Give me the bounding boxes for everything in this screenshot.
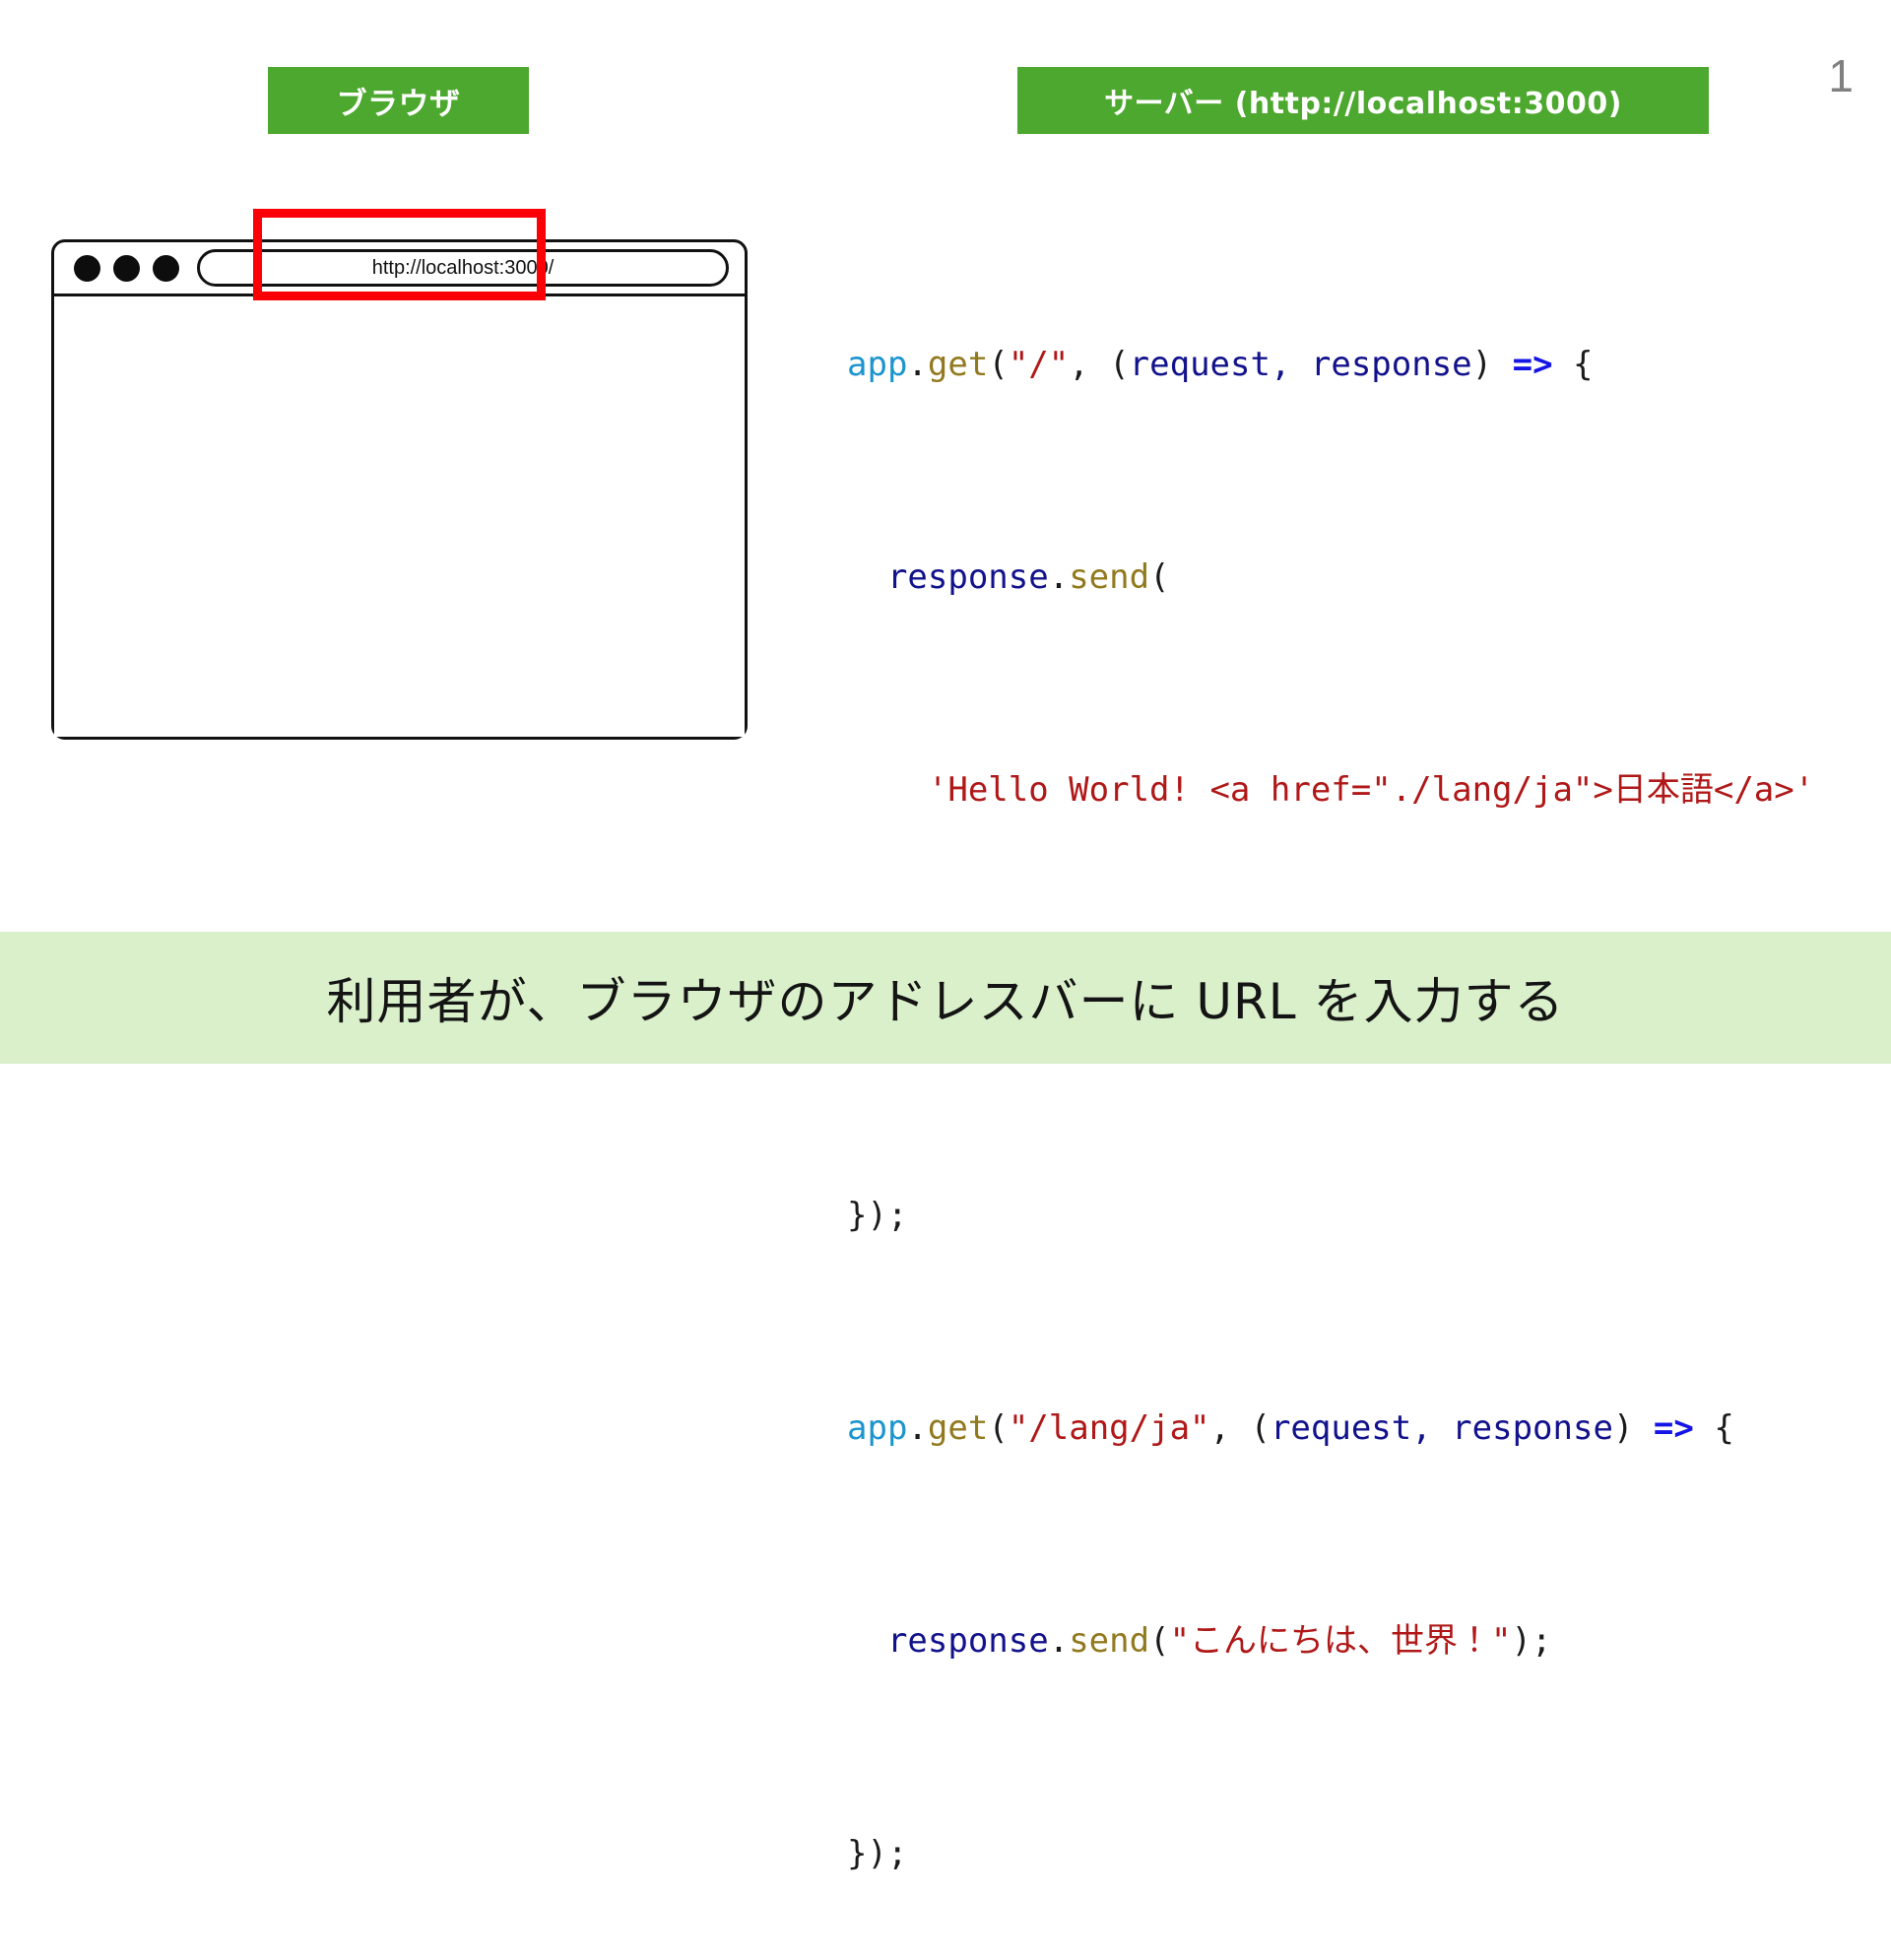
- code-line: 'Hello World! <a href="./lang/ja">日本語</a…: [847, 754, 1861, 825]
- code-token-punct: .: [1049, 1621, 1069, 1661]
- code-token-arrow: =>: [1654, 1408, 1694, 1448]
- browser-viewport: [54, 296, 745, 737]
- code-token-punct: [847, 1621, 887, 1661]
- code-token-punct: , (: [1069, 345, 1129, 384]
- code-token-str: 'Hello World! <a href="./lang/ja">日本語</a…: [928, 770, 1814, 810]
- code-token-arrow: =>: [1513, 345, 1553, 384]
- code-token-str: "/lang/ja": [1009, 1408, 1210, 1448]
- code-token-fn: send: [1069, 1621, 1149, 1661]
- page-number: 1: [1828, 53, 1854, 98]
- code-token-punct: [847, 557, 887, 597]
- code-token-punct: .: [907, 1408, 927, 1448]
- code-token-str: "/": [1009, 345, 1069, 384]
- browser-column-header: ブラウザ: [268, 67, 529, 134]
- code-token-punct: );: [1512, 1621, 1552, 1661]
- address-bar-url-text[interactable]: http://localhost:3000/: [372, 257, 554, 280]
- code-token-obj: app: [847, 345, 907, 384]
- code-token-punct: ): [1472, 345, 1513, 384]
- caption-bar: 利用者が、ブラウザのアドレスバーに URL を入力する: [0, 932, 1891, 1064]
- code-token-var: response: [887, 1621, 1049, 1661]
- code-token-punct: .: [907, 345, 927, 384]
- code-token-punct: (: [1149, 557, 1169, 597]
- code-token-punct: (: [988, 345, 1008, 384]
- caption-text: 利用者が、ブラウザのアドレスバーに URL を入力する: [327, 962, 1565, 1033]
- server-column-header-label: サーバー (http://localhost:3000): [1104, 79, 1622, 122]
- browser-chrome-bar: http://localhost:3000/: [54, 242, 745, 296]
- code-line: });: [847, 1818, 1861, 1889]
- code-token-punct: {: [1553, 345, 1594, 384]
- code-line: });: [847, 1180, 1861, 1251]
- code-token-var: request, response: [1271, 1408, 1613, 1448]
- code-token-punct: ): [1613, 1408, 1654, 1448]
- browser-column-header-label: ブラウザ: [337, 79, 461, 123]
- code-line: app.get("/lang/ja", (request, response) …: [847, 1393, 1861, 1464]
- server-column-header: サーバー (http://localhost:3000): [1017, 67, 1709, 134]
- window-controls: [74, 255, 179, 282]
- code-token-punct: .: [1049, 557, 1069, 597]
- code-token-str: "こんにちは、世界！": [1170, 1621, 1512, 1661]
- code-token-fn: get: [928, 1408, 988, 1448]
- code-token-var: response: [887, 557, 1049, 597]
- server-code-block: app.get("/", (request, response) => { re…: [847, 187, 1861, 1960]
- code-line: response.send(: [847, 542, 1861, 613]
- address-bar[interactable]: http://localhost:3000/: [197, 249, 729, 287]
- code-token-punct: [847, 770, 928, 810]
- code-line: response.send("こんにちは、世界！");: [847, 1605, 1861, 1676]
- code-line: app.get("/", (request, response) => {: [847, 329, 1861, 400]
- code-token-fn: get: [928, 345, 988, 384]
- code-token-punct: });: [847, 1196, 907, 1235]
- code-token-var: request, response: [1130, 345, 1472, 384]
- browser-window-mock: http://localhost:3000/: [51, 239, 748, 740]
- code-token-punct: , (: [1210, 1408, 1271, 1448]
- code-token-punct: });: [847, 1834, 907, 1873]
- code-token-obj: app: [847, 1408, 907, 1448]
- code-token-fn: send: [1069, 557, 1149, 597]
- window-maximize-dot-icon[interactable]: [153, 255, 179, 282]
- window-minimize-dot-icon[interactable]: [113, 255, 140, 282]
- window-close-dot-icon[interactable]: [74, 255, 100, 282]
- code-token-punct: {: [1694, 1408, 1734, 1448]
- code-token-punct: (: [1149, 1621, 1169, 1661]
- code-token-punct: (: [988, 1408, 1008, 1448]
